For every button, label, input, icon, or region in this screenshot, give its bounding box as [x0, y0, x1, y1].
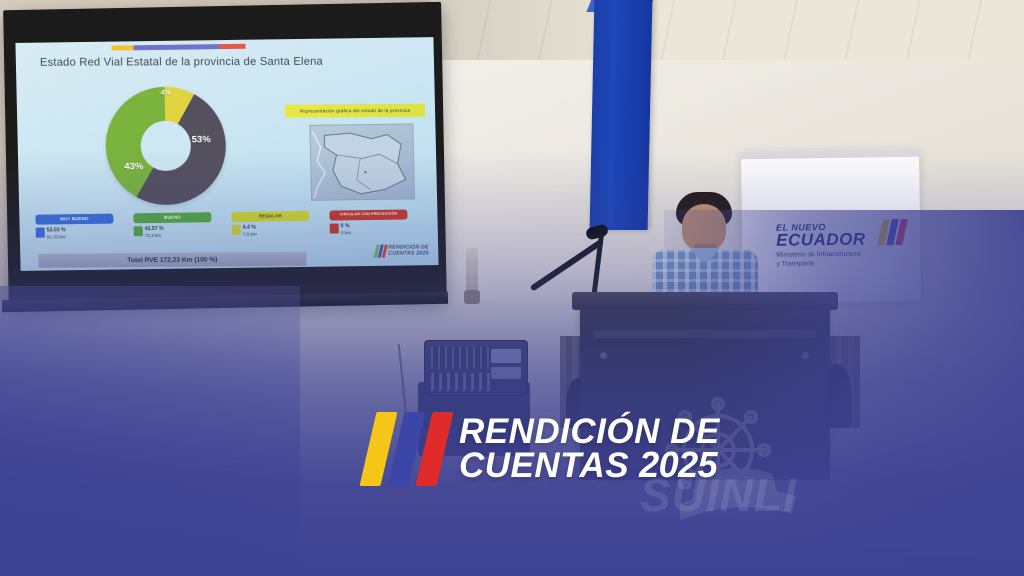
- slide-total-bar: Total RVE 172,23 Km (100 %): [38, 252, 306, 268]
- mixer-display-bottom: [491, 367, 521, 379]
- mixer-knobs: [431, 347, 491, 369]
- legend-km-bueno: 73,3 km: [145, 233, 161, 238]
- ministry-banner: EL NUEVO ECUADOR Ministerio de Infraestr…: [741, 149, 921, 303]
- screenshot-root: Estado Red Vial Estatal de la provincia …: [0, 0, 1024, 576]
- slide-brand-logo: RENDICIÓN DE CUENTAS 2025: [375, 244, 429, 257]
- banner-rail: [741, 149, 919, 159]
- donut-label-43: 43%: [124, 161, 143, 172]
- legend-chip-bueno: BUENO: [133, 212, 211, 223]
- legend-km-circular: 0 km: [341, 230, 351, 235]
- legend-item-regular: REGULAR 4.4 % 7,6 km: [231, 211, 310, 238]
- legend-percent-regular: 4.4 %: [243, 225, 256, 231]
- donut-label-4: 4%: [161, 90, 171, 97]
- legend-swatch-icon-muy-bueno: [36, 228, 45, 238]
- banner-flag-bars-icon: [880, 219, 905, 245]
- legend-percent-muy-bueno: 53.03 %: [47, 227, 66, 233]
- mixer-display-top: [491, 349, 521, 363]
- podium-trim-band: [594, 330, 816, 338]
- legend-chip-circular-con-precaucion: CIRCULAR CON PRECAUCIÓN: [329, 209, 407, 220]
- legend-km-regular: 7,6 km: [243, 232, 257, 237]
- audio-mixer: [424, 340, 528, 396]
- lockup-line2: CUENTAS: [459, 450, 629, 482]
- legend-item-muy-bueno: MUY BUENO 53.03 % 91,33 km: [35, 214, 114, 241]
- slide-title: Estado Red Vial Estatal de la provincia …: [40, 55, 400, 68]
- map-outline-icon: [310, 124, 414, 200]
- rendicion-cuentas-lockup: RENDICIÓN DE CUENTAS 2025: [368, 412, 720, 486]
- legend-chip-regular: REGULAR: [231, 211, 309, 222]
- room-photo: Estado Red Vial Estatal de la provincia …: [0, 0, 1024, 576]
- podium-top-surface: [572, 292, 838, 310]
- donut-chart: 53% 43% 4%: [104, 86, 227, 206]
- mixer-faders: [431, 373, 493, 391]
- presentation-slide: Estado Red Vial Estatal de la provincia …: [15, 37, 438, 271]
- lockup-flag-bars-icon: [368, 412, 445, 486]
- banner-ministry-line2: y Transporte: [776, 259, 921, 270]
- legend-item-bueno: BUENO 42.57 % 73,3 km: [133, 212, 212, 239]
- projection-screen-strap: [466, 248, 478, 296]
- legend-swatch-icon-circular-con-precaucion: [330, 223, 339, 233]
- blue-column: [590, 0, 653, 230]
- lockup-text: RENDICIÓN DE CUENTAS 2025: [459, 416, 720, 482]
- lockup-year: 2025: [639, 448, 717, 481]
- slide-legend: MUY BUENO 53.03 % 91,33 km BUENO: [35, 209, 428, 250]
- slide-accent-bars: [112, 44, 252, 55]
- legend-km-muy-bueno: 91,33 km: [47, 234, 66, 239]
- slide-logo-flag-bars-icon: [375, 245, 386, 258]
- slide-logo-line2: CUENTAS: [388, 250, 414, 256]
- legend-chip-muy-bueno: MUY BUENO: [35, 214, 113, 225]
- province-map: [309, 123, 415, 200]
- legend-swatch-icon-bueno: [134, 226, 143, 236]
- slide-callout: Representación gráfica del estado de la …: [285, 104, 425, 118]
- slide-logo-year: 2025: [416, 250, 428, 256]
- legend-percent-circular: 0 %: [341, 223, 350, 229]
- banner-content: EL NUEVO ECUADOR Ministerio de Infraestr…: [776, 221, 921, 270]
- legend-percent-bueno: 42.57 %: [145, 226, 164, 232]
- donut-label-53: 53%: [192, 134, 211, 145]
- legend-swatch-icon-regular: [232, 225, 241, 235]
- legend-item-circular-con-precaucion: CIRCULAR CON PRECAUCIÓN 0 % 0 km: [329, 209, 408, 236]
